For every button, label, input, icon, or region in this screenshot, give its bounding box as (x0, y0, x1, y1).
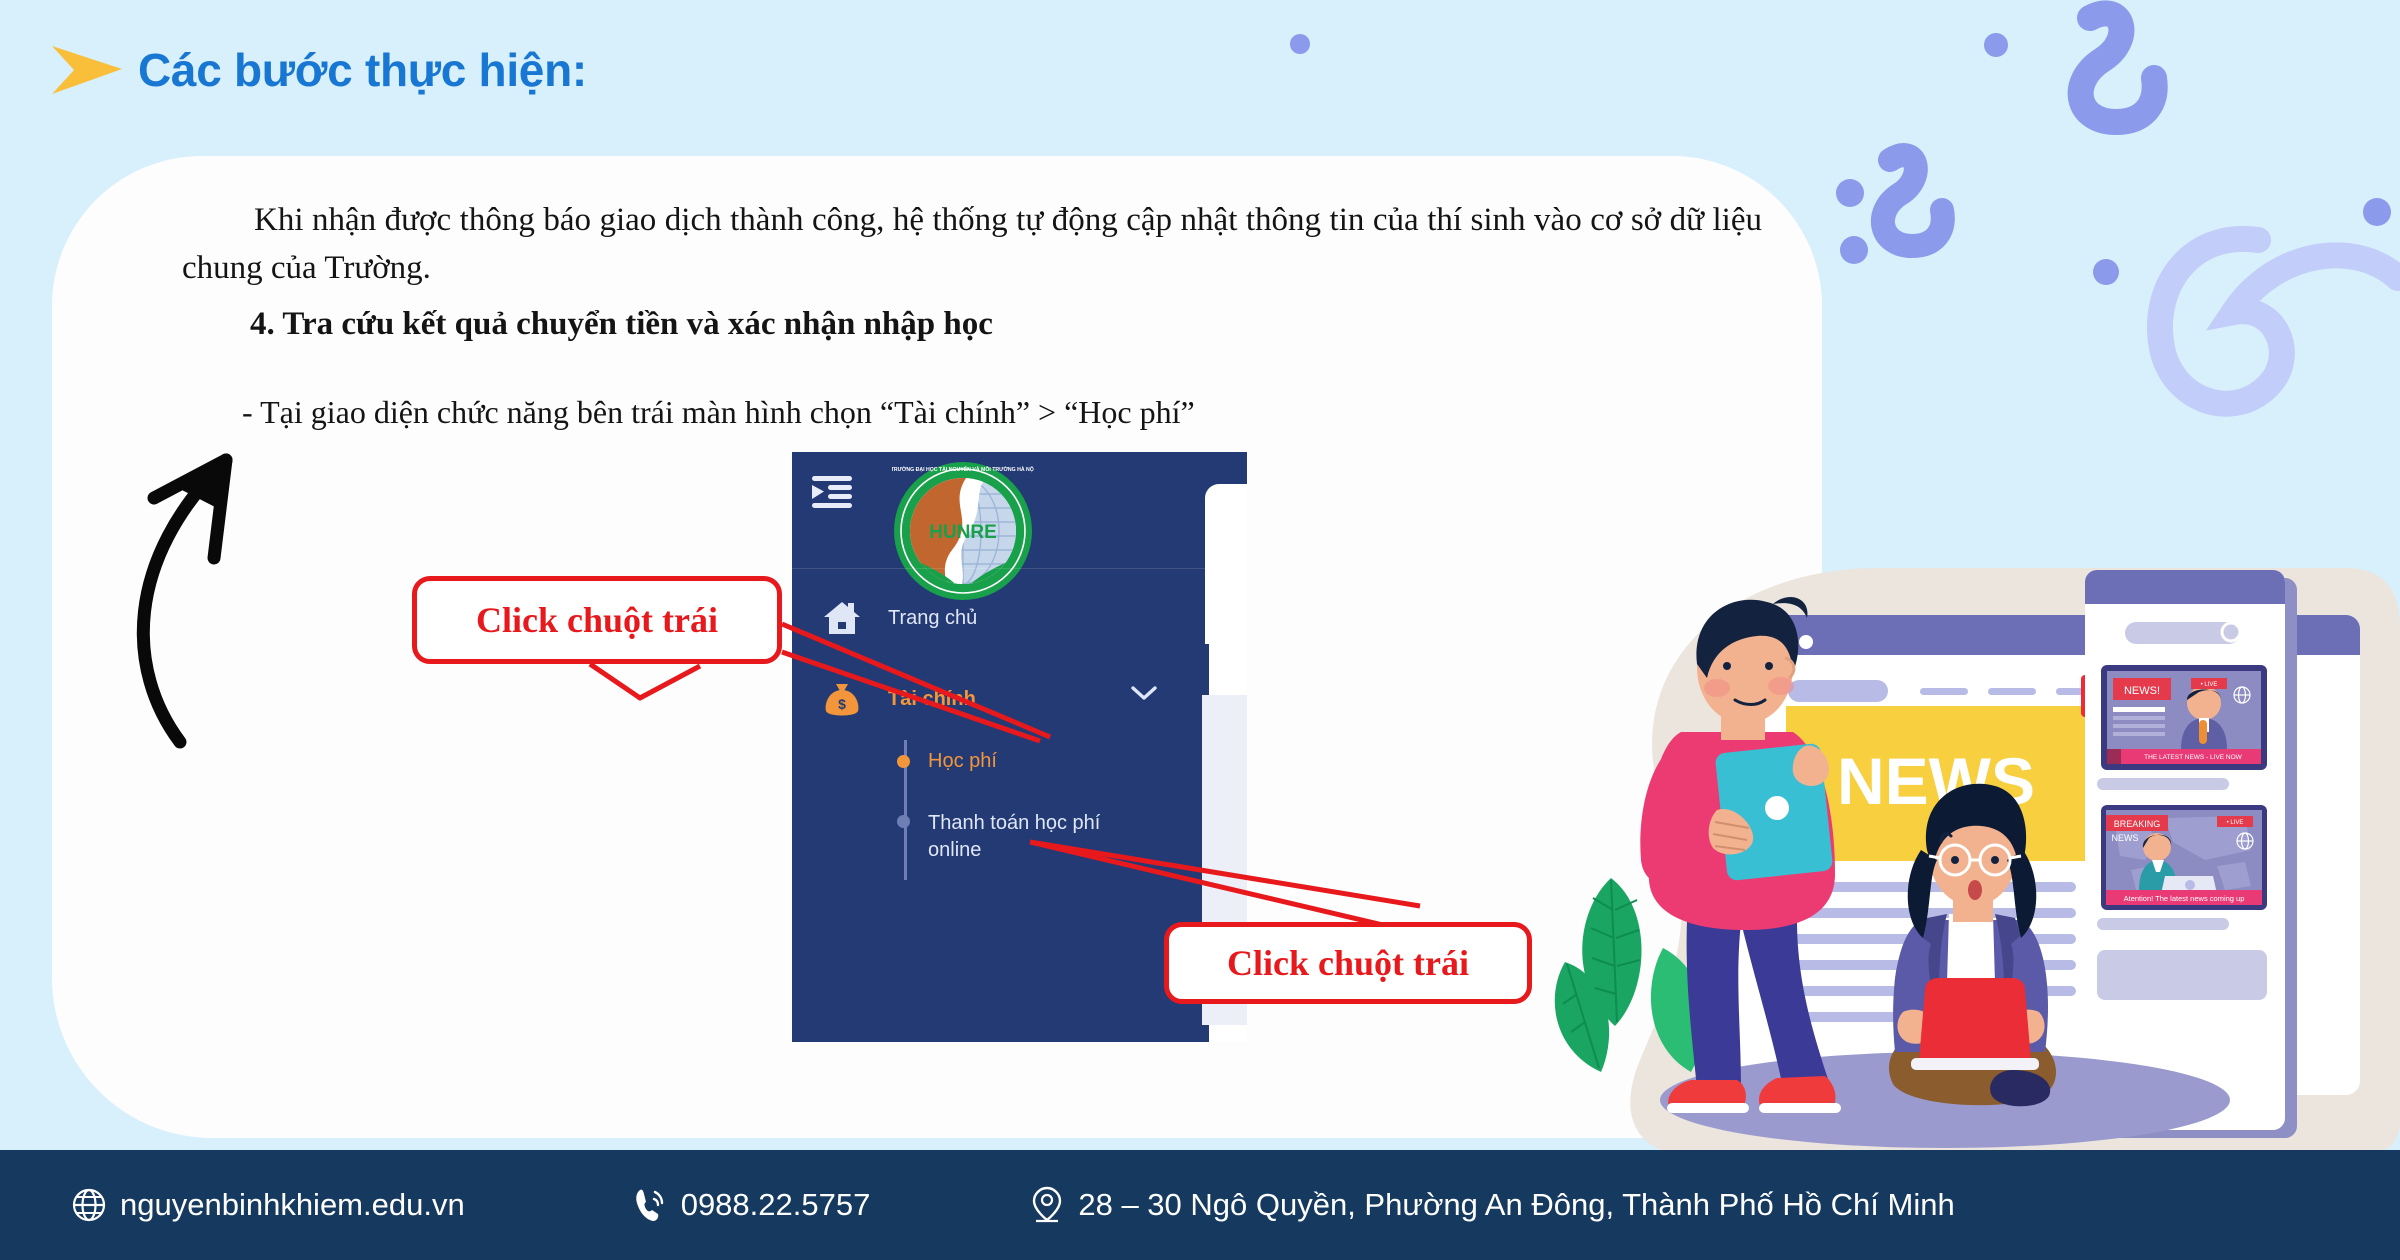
annotation-callout-text: Click chuột trái (476, 599, 718, 641)
location-pin-icon (1030, 1186, 1064, 1224)
card2-title: BREAKING (2114, 819, 2161, 829)
slide-canvas: Các bước thực hiện: Khi nhận được thông … (0, 0, 2400, 1260)
footer-address[interactable]: 28 – 30 Ngô Quyền, Phường An Đông, Thành… (1030, 1186, 1954, 1224)
footer-bar: nguyenbinhkhiem.edu.vn 0988.22.5757 28 –… (0, 1150, 2400, 1260)
footer-website[interactable]: nguyenbinhkhiem.edu.vn (72, 1187, 465, 1223)
card2-subtitle: NEWS (2112, 833, 2139, 843)
footer-phone[interactable]: 0988.22.5757 (633, 1187, 871, 1223)
news-illustration: NEWS LIVE (1545, 560, 2400, 1160)
annotation-callout-1: Click chuột trái (412, 576, 782, 664)
card1-title: NEWS! (2124, 685, 2160, 697)
footer-phone-text: 0988.22.5757 (681, 1187, 871, 1223)
svg-text:• LIVE: • LIVE (2227, 820, 2244, 826)
svg-text:• LIVE: • LIVE (2201, 682, 2218, 688)
annotation-callout-text: Click chuột trái (1227, 942, 1469, 984)
phone-icon (633, 1187, 667, 1223)
footer-website-text: nguyenbinhkhiem.edu.vn (120, 1187, 465, 1223)
globe-icon (72, 1188, 106, 1222)
footer-address-text: 28 – 30 Ngô Quyền, Phường An Đông, Thành… (1078, 1187, 1954, 1223)
annotation-callout-2: Click chuột trái (1164, 922, 1532, 1004)
card1-ticker: THE LATEST NEWS - LIVE NOW (2144, 754, 2242, 761)
news-card-panel: NEWS! • LIVE THE LATEST NEWS - LIVE NOW (2085, 570, 2297, 1138)
card2-ticker: Atention! The latest news coming up (2124, 894, 2245, 903)
